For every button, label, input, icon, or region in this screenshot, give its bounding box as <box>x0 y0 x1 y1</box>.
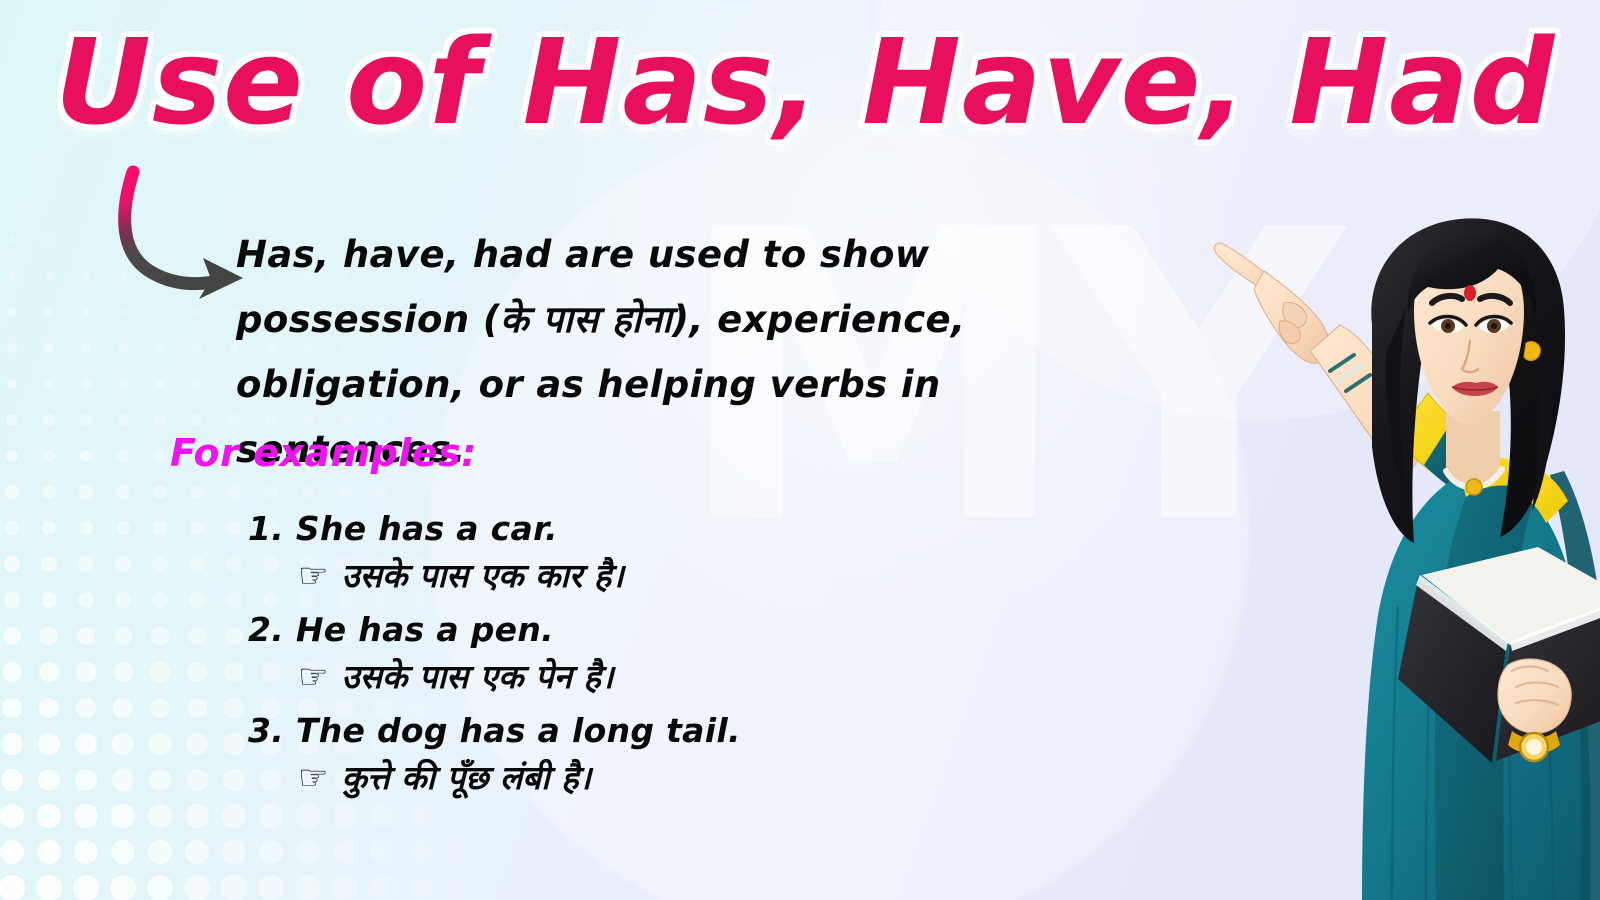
list-item: 3. The dog has a long tail. ☞ कुत्ते की … <box>248 710 1148 800</box>
example-hindi: उसके पास एक कार है। <box>341 554 623 598</box>
example-hindi: उसके पास एक पेन है। <box>341 655 613 699</box>
list-item: 2. He has a pen. ☞ उसके पास एक पेन है। <box>248 609 1148 699</box>
example-hindi: कुत्ते की पूँछ लंबी है। <box>341 756 591 800</box>
page-title: Use of Has, Have, Had <box>55 16 1475 148</box>
examples-heading: For examples: <box>170 434 477 472</box>
example-english: 1. She has a car. <box>248 508 1148 550</box>
list-item: 1. She has a car. ☞ उसके पास एक कार है। <box>248 508 1148 598</box>
teacher-illustration <box>1160 175 1600 900</box>
example-translation-row: ☞ उसके पास एक कार है। <box>298 554 1148 598</box>
example-translation-row: ☞ कुत्ते की पूँछ लंबी है। <box>298 756 1148 800</box>
pointing-hand-icon: ☞ <box>298 655 328 699</box>
examples-list: 1. She has a car. ☞ उसके पास एक कार है। … <box>248 508 1148 811</box>
pointing-hand-icon: ☞ <box>298 756 328 800</box>
poster-canvas: MY Use of Has, Have, Had Has, have, had … <box>0 0 1600 900</box>
example-english: 2. He has a pen. <box>248 609 1148 651</box>
example-english: 3. The dog has a long tail. <box>248 710 1148 752</box>
definition-hindi-gloss: के पास होना <box>500 298 672 341</box>
example-translation-row: ☞ उसके पास एक पेन है। <box>298 655 1148 699</box>
pointing-hand-icon: ☞ <box>298 554 328 598</box>
